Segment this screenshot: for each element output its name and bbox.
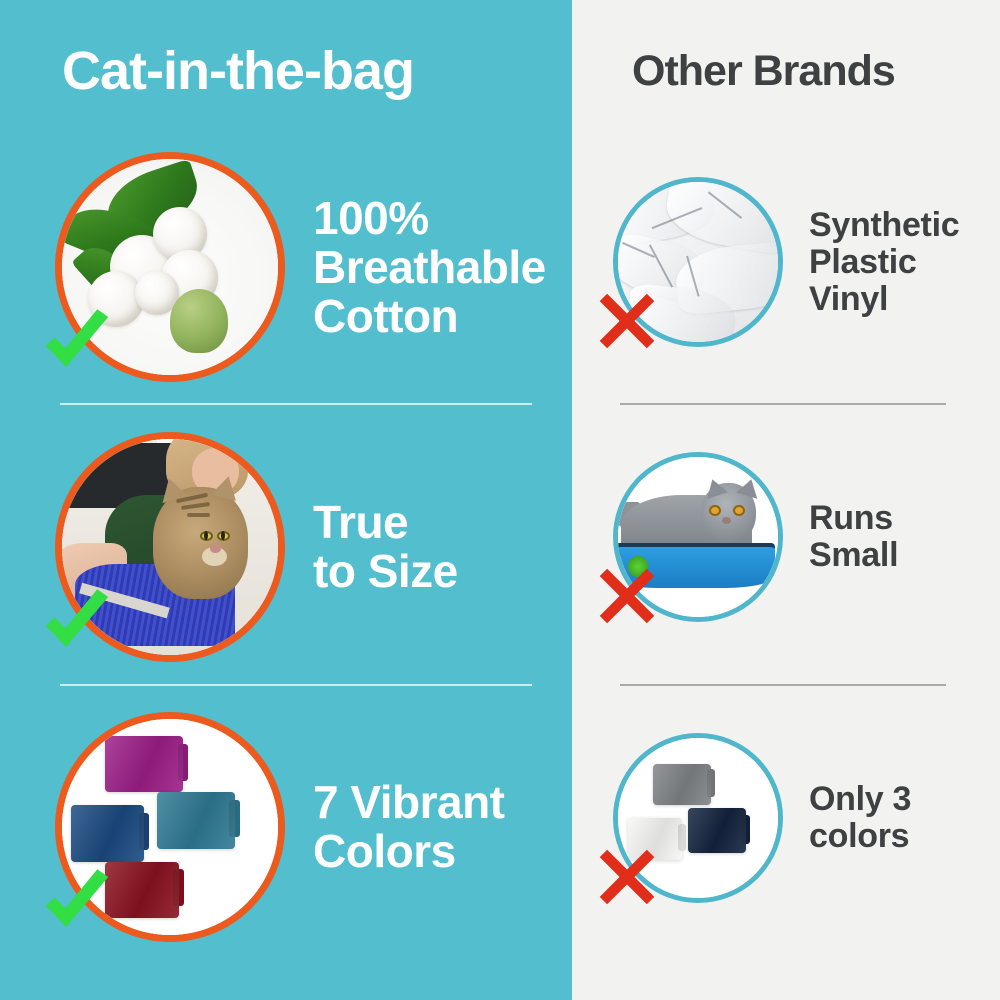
right-divider-2 bbox=[620, 684, 946, 686]
drawback-caption-only-3-colors: Only 3 colors bbox=[809, 781, 911, 855]
red-x-icon bbox=[596, 846, 658, 908]
feature-caption-colors: 7 Vibrant Colors bbox=[313, 778, 505, 876]
plastic-sheeting-photo bbox=[613, 177, 783, 347]
cotton-bolls-photo bbox=[55, 152, 285, 382]
drawback-row-runs-small: Runs Small bbox=[613, 452, 983, 622]
feature-row-cotton: 100% Breathable Cotton bbox=[55, 152, 555, 382]
cat-in-bag-photo bbox=[55, 432, 285, 662]
comparison-infographic: Cat-in-the-bag Other Brands bbox=[0, 0, 1000, 1000]
drawback-row-only-3-colors: Only 3 colors bbox=[613, 733, 983, 903]
drawback-caption-plastic: Synthetic Plastic Vinyl bbox=[809, 207, 959, 318]
feature-row-true-to-size: True to Size bbox=[55, 432, 555, 662]
left-divider-2 bbox=[60, 684, 532, 686]
three-color-bags-photo bbox=[613, 733, 783, 903]
drawback-caption-runs-small: Runs Small bbox=[809, 500, 898, 574]
green-check-icon bbox=[38, 863, 116, 941]
brand-column-heading: Cat-in-the-bag bbox=[62, 40, 414, 102]
drawback-row-plastic: Synthetic Plastic Vinyl bbox=[613, 177, 983, 347]
red-x-icon bbox=[596, 565, 658, 627]
colored-bags-photo bbox=[55, 712, 285, 942]
left-divider-1 bbox=[60, 403, 532, 405]
other-brands-column-heading: Other Brands bbox=[632, 47, 895, 96]
feature-row-colors: 7 Vibrant Colors bbox=[55, 712, 555, 942]
feature-caption-cotton: 100% Breathable Cotton bbox=[313, 194, 546, 341]
feature-caption-true-to-size: True to Size bbox=[313, 498, 458, 596]
green-check-icon bbox=[38, 583, 116, 661]
red-x-icon bbox=[596, 290, 658, 352]
gray-cat-in-bed-photo bbox=[613, 452, 783, 622]
right-divider-1 bbox=[620, 403, 946, 405]
green-check-icon bbox=[38, 303, 116, 381]
